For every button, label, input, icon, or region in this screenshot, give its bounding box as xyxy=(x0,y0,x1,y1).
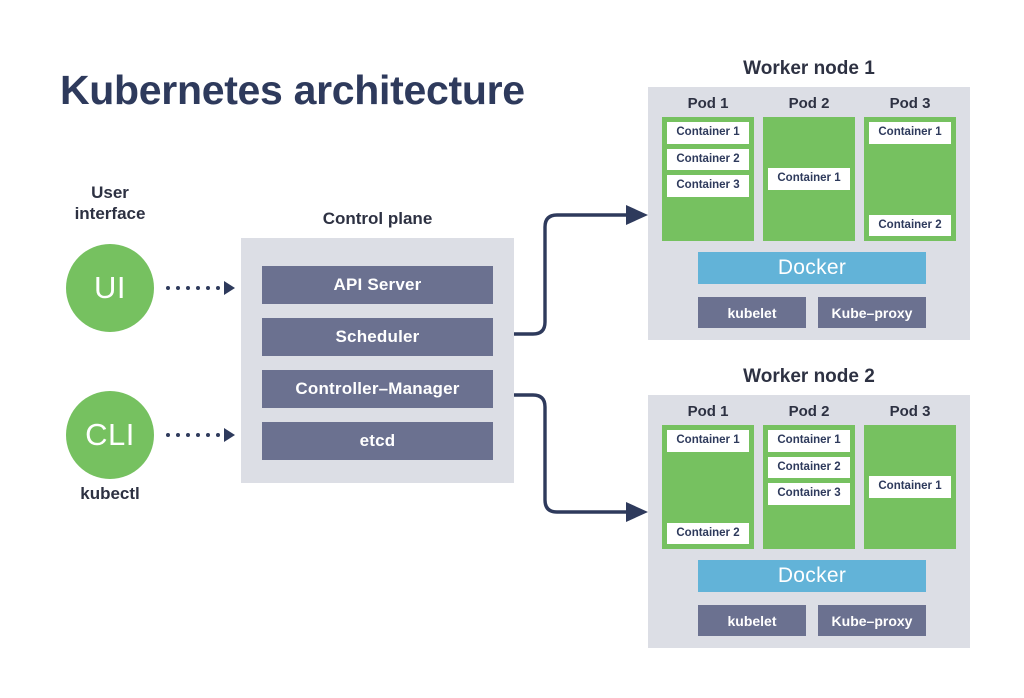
worker-node-2-pod-3[interactable]: Pod 3 Container 1 xyxy=(864,403,956,549)
kubectl-caption: kubectl xyxy=(30,484,190,505)
container-chip[interactable]: Container 1 xyxy=(667,122,749,144)
worker-node-1-kubelet[interactable]: kubelet xyxy=(698,297,806,328)
pod-label: Pod 1 xyxy=(662,95,754,112)
container-chip[interactable]: Container 1 xyxy=(768,168,850,190)
pod-label: Pod 3 xyxy=(864,403,956,420)
worker-node-1-kube-proxy[interactable]: Kube–proxy xyxy=(818,297,926,328)
control-plane-component-etcd[interactable]: etcd xyxy=(262,422,493,460)
container-chip[interactable]: Container 1 xyxy=(667,430,749,452)
container-chip[interactable]: Container 2 xyxy=(869,215,951,237)
container-chip[interactable]: Container 1 xyxy=(869,122,951,144)
cli-to-control-plane-arrow xyxy=(166,428,235,442)
container-chip[interactable]: Container 1 xyxy=(869,476,951,498)
worker-node-1-agents-row: kubelet Kube–proxy xyxy=(698,297,926,328)
arrowhead-worker-node-1-icon xyxy=(626,205,648,225)
control-plane-component-controller-manager[interactable]: Controller–Manager xyxy=(262,370,493,408)
worker-node-1-panel: Pod 1 Container 1 Container 2 Container … xyxy=(648,87,970,340)
user-interface-caption-line1: User xyxy=(30,183,190,204)
container-chip[interactable]: Container 2 xyxy=(667,523,749,545)
ui-node-label: UI xyxy=(94,270,126,306)
control-plane-component-scheduler[interactable]: Scheduler xyxy=(262,318,493,356)
arrowhead-icon xyxy=(224,428,235,442)
user-interface-caption-line2: interface xyxy=(30,204,190,225)
pod-body: Container 1 Container 2 xyxy=(662,425,754,549)
pod-label: Pod 2 xyxy=(763,403,855,420)
arrowhead-icon xyxy=(224,281,235,295)
worker-node-2-container-runtime[interactable]: Docker xyxy=(698,560,926,592)
worker-node-2-title: Worker node 2 xyxy=(648,366,970,388)
connector-to-worker-node-1 xyxy=(514,215,627,334)
control-plane-component-api-server[interactable]: API Server xyxy=(262,266,493,304)
control-plane-panel: API Server Scheduler Controller–Manager … xyxy=(241,238,514,483)
user-interface-caption: User interface xyxy=(30,183,190,224)
container-chip[interactable]: Container 2 xyxy=(768,457,850,479)
worker-node-1-container-runtime[interactable]: Docker xyxy=(698,252,926,284)
page-title: Kubernetes architecture xyxy=(60,67,525,114)
pod-body: Container 1 xyxy=(763,117,855,241)
pod-body: Container 1 Container 2 xyxy=(864,117,956,241)
worker-node-2-pod-1[interactable]: Pod 1 Container 1 Container 2 xyxy=(662,403,754,549)
dotted-line xyxy=(166,433,220,437)
worker-node-1-pod-3[interactable]: Pod 3 Container 1 Container 2 xyxy=(864,95,956,241)
worker-node-2-pods-row: Pod 1 Container 1 Container 2 Pod 2 Cont… xyxy=(662,403,956,549)
worker-node-1-title: Worker node 1 xyxy=(648,58,970,80)
worker-node-1-pod-2[interactable]: Pod 2 Container 1 xyxy=(763,95,855,241)
dotted-line xyxy=(166,286,220,290)
worker-node-2-panel: Pod 1 Container 1 Container 2 Pod 2 Cont… xyxy=(648,395,970,648)
cli-node-label: CLI xyxy=(85,417,135,453)
arrowhead-worker-node-2-icon xyxy=(626,502,648,522)
ui-to-control-plane-arrow xyxy=(166,281,235,295)
container-chip[interactable]: Container 2 xyxy=(667,149,749,171)
pod-body: Container 1 xyxy=(864,425,956,549)
connector-to-worker-node-2 xyxy=(514,395,627,512)
pod-label: Pod 1 xyxy=(662,403,754,420)
cli-node[interactable]: CLI xyxy=(66,391,154,479)
container-chip[interactable]: Container 1 xyxy=(768,430,850,452)
worker-node-2-kube-proxy[interactable]: Kube–proxy xyxy=(818,605,926,636)
worker-node-1-pod-1[interactable]: Pod 1 Container 1 Container 2 Container … xyxy=(662,95,754,241)
container-chip[interactable]: Container 3 xyxy=(667,175,749,197)
diagram-canvas: Kubernetes architecture User interface U… xyxy=(0,0,1024,698)
worker-node-2-pod-2[interactable]: Pod 2 Container 1 Container 2 Container … xyxy=(763,403,855,549)
ui-node[interactable]: UI xyxy=(66,244,154,332)
pod-body: Container 1 Container 2 Container 3 xyxy=(662,117,754,241)
worker-node-2-agents-row: kubelet Kube–proxy xyxy=(698,605,926,636)
control-plane-title: Control plane xyxy=(241,209,514,229)
pod-label: Pod 2 xyxy=(763,95,855,112)
pod-body: Container 1 Container 2 Container 3 xyxy=(763,425,855,549)
pod-label: Pod 3 xyxy=(864,95,956,112)
worker-node-1-pods-row: Pod 1 Container 1 Container 2 Container … xyxy=(662,95,956,241)
worker-node-2-kubelet[interactable]: kubelet xyxy=(698,605,806,636)
container-chip[interactable]: Container 3 xyxy=(768,483,850,505)
